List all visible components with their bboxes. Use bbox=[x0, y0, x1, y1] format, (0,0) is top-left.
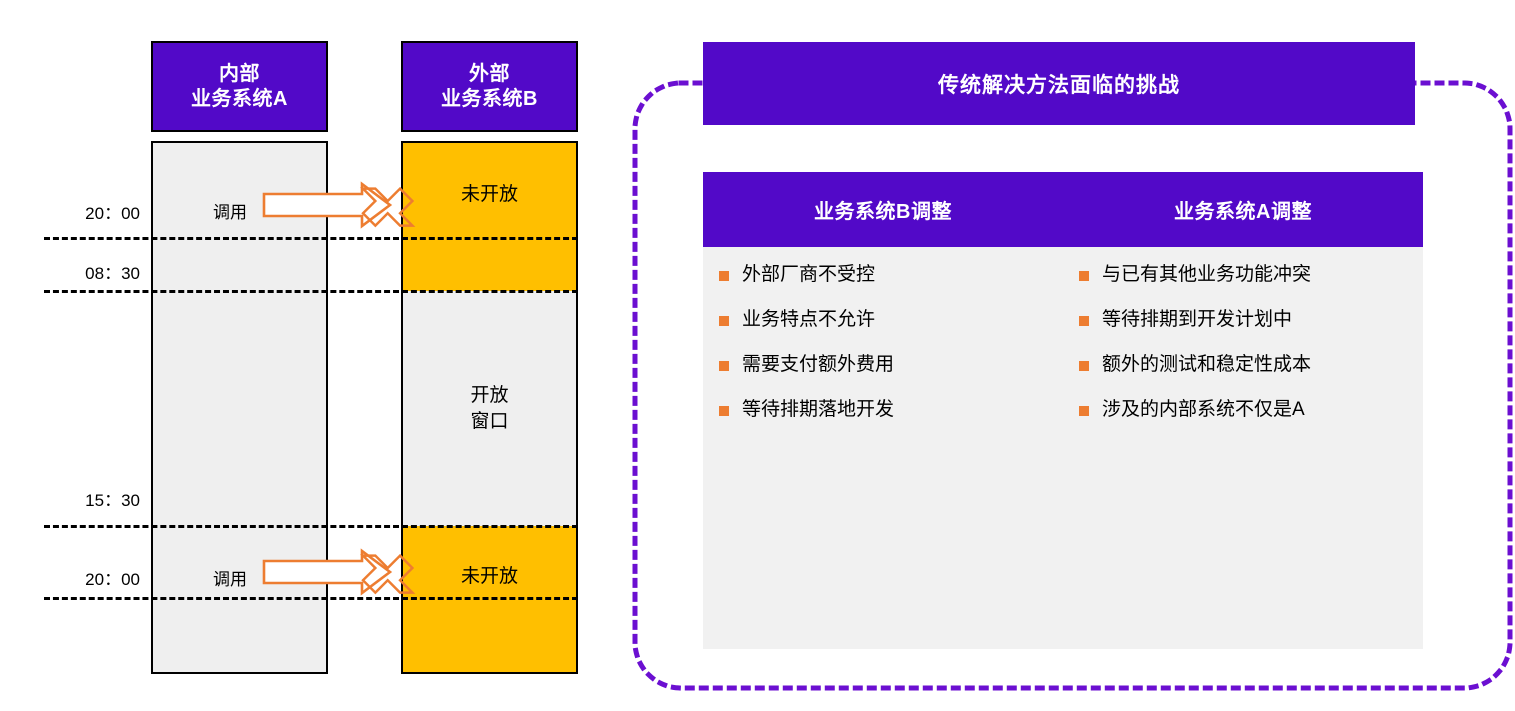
list-item: 业务特点不允许 bbox=[719, 306, 1063, 351]
segment-closed-top: 未开放 bbox=[403, 143, 576, 291]
challenge-column-system-a: 与已有其他业务功能冲突 等待排期到开发计划中 额外的测试和稳定性成本 涉及的内部… bbox=[1063, 261, 1423, 441]
square-bullet-icon bbox=[1079, 361, 1089, 371]
square-bullet-icon bbox=[719, 406, 729, 416]
challenge-b-item-2: 需要支付额外费用 bbox=[742, 351, 894, 379]
dash-line-2000-top bbox=[44, 237, 578, 240]
segment-closed-bottom-label: 未开放 bbox=[461, 564, 518, 590]
timeline-diagram: 内部 业务系统A 外部 业务系统B 未开放 开放 窗口 未开放 20：00 08… bbox=[0, 0, 620, 711]
challenge-header-system-b: 业务系统B调整 bbox=[703, 172, 1063, 247]
square-bullet-icon bbox=[719, 361, 729, 371]
segment-closed-top-label: 未开放 bbox=[461, 182, 518, 208]
square-bullet-icon bbox=[1079, 316, 1089, 326]
column-b-title-line1: 外部 bbox=[469, 62, 510, 87]
challenge-body: 业务系统B调整 业务系统A调整 外部厂商不受控 业务特点不允许 需要支付额外费用 bbox=[703, 172, 1423, 649]
challenge-title: 传统解决方法面临的挑战 bbox=[703, 42, 1415, 125]
dash-line-1530 bbox=[44, 525, 578, 528]
challenge-header-system-a: 业务系统A调整 bbox=[1063, 172, 1423, 247]
challenge-b-item-0: 外部厂商不受控 bbox=[742, 261, 875, 289]
segment-open-window: 开放 窗口 bbox=[403, 291, 576, 526]
challenge-header-row: 业务系统B调整 业务系统A调整 bbox=[703, 172, 1423, 247]
square-bullet-icon bbox=[1079, 406, 1089, 416]
list-item: 等待排期到开发计划中 bbox=[1079, 306, 1423, 351]
square-bullet-icon bbox=[719, 316, 729, 326]
challenge-panel: 传统解决方法面临的挑战 业务系统B调整 业务系统A调整 外部厂商不受控 业务特点… bbox=[620, 0, 1515, 711]
challenge-a-item-3: 涉及的内部系统不仅是A bbox=[1102, 396, 1305, 424]
challenge-columns: 外部厂商不受控 业务特点不允许 需要支付额外费用 等待排期落地开发 bbox=[703, 247, 1423, 441]
challenge-b-item-3: 等待排期落地开发 bbox=[742, 396, 894, 424]
segment-open-label-line1: 开放 bbox=[470, 383, 508, 409]
column-a-title-line2: 业务系统A bbox=[191, 87, 288, 112]
time-label-2000-top: 20：00 bbox=[30, 199, 140, 224]
list-item: 涉及的内部系统不仅是A bbox=[1079, 396, 1423, 441]
blocked-call-arrow-bottom bbox=[258, 547, 428, 603]
time-label-1530: 15：30 bbox=[30, 486, 140, 511]
challenge-a-item-2: 额外的测试和稳定性成本 bbox=[1102, 351, 1311, 379]
call-label-top: 调用 bbox=[213, 198, 247, 223]
list-item: 外部厂商不受控 bbox=[719, 261, 1063, 306]
square-bullet-icon bbox=[719, 271, 729, 281]
challenge-a-item-0: 与已有其他业务功能冲突 bbox=[1102, 261, 1311, 289]
column-header-system-b: 外部 业务系统B bbox=[401, 41, 578, 132]
list-item: 与已有其他业务功能冲突 bbox=[1079, 261, 1423, 306]
list-item: 需要支付额外费用 bbox=[719, 351, 1063, 396]
time-label-0830: 08：30 bbox=[30, 259, 140, 284]
challenge-a-item-1: 等待排期到开发计划中 bbox=[1102, 306, 1292, 334]
column-a-title-line1: 内部 bbox=[219, 62, 260, 87]
blocked-call-arrow-top bbox=[258, 180, 428, 236]
list-item: 等待排期落地开发 bbox=[719, 396, 1063, 441]
challenge-b-item-1: 业务特点不允许 bbox=[742, 306, 875, 334]
column-b-title-line2: 业务系统B bbox=[441, 87, 538, 112]
dash-line-0830 bbox=[44, 290, 578, 293]
call-label-bottom: 调用 bbox=[213, 565, 247, 590]
segment-open-label-line2: 窗口 bbox=[470, 409, 508, 435]
column-header-system-a: 内部 业务系统A bbox=[151, 41, 328, 132]
time-label-2000-bottom: 20：00 bbox=[30, 565, 140, 590]
list-item: 额外的测试和稳定性成本 bbox=[1079, 351, 1423, 396]
square-bullet-icon bbox=[1079, 271, 1089, 281]
challenge-column-system-b: 外部厂商不受控 业务特点不允许 需要支付额外费用 等待排期落地开发 bbox=[703, 261, 1063, 441]
